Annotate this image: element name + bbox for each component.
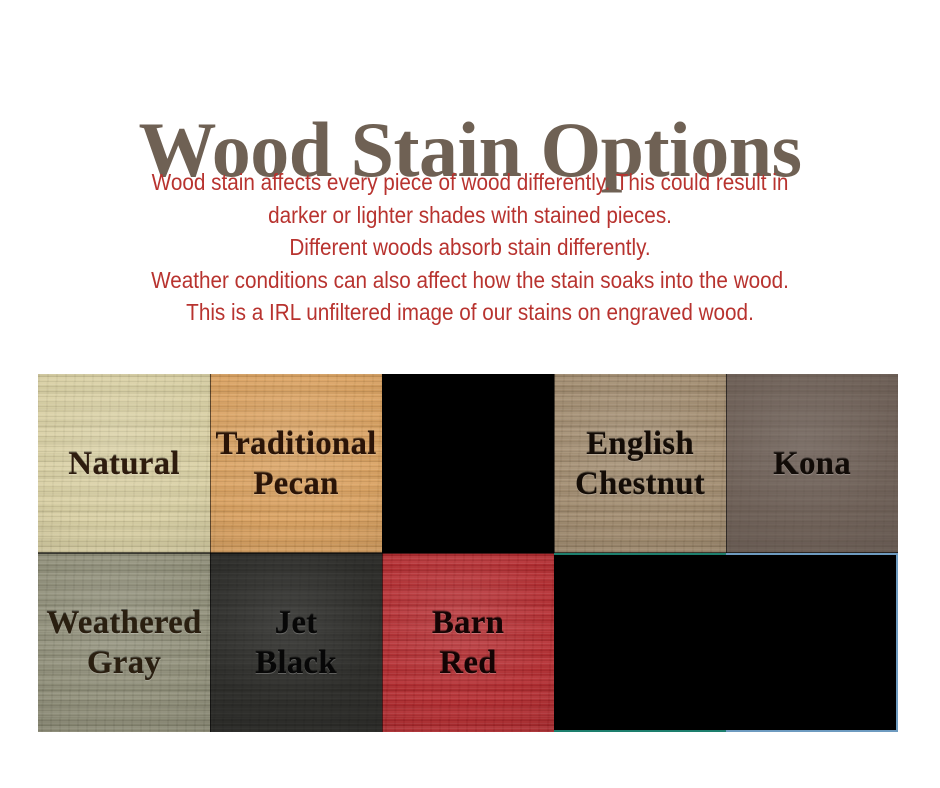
swatch-weathered-gray[interactable]: Weathered Gray — [38, 553, 210, 732]
intro-line-4: Weather conditions can also affect how t… — [47, 264, 893, 297]
intro-line-1: Wood stain affects every piece of wood d… — [47, 166, 893, 199]
swatch-english-chestnut[interactable]: English Chestnut — [554, 374, 726, 553]
swatch-label-weathered-gray: Weathered Gray — [46, 603, 201, 683]
intro-line-2: darker or lighter shades with stained pi… — [47, 199, 893, 232]
swatch-label-natural: Natural — [68, 444, 179, 484]
stain-swatch-board: Natural Traditional Pecan English Chestn… — [38, 374, 898, 732]
swatch-kona[interactable]: Kona — [726, 374, 898, 553]
swatch-label-kona: Kona — [773, 444, 851, 484]
swatch-jet-black[interactable]: Jet Black — [210, 553, 382, 732]
intro-line-3: Different woods absorb stain differently… — [47, 231, 893, 264]
swatch-label-english-chestnut: English Chestnut — [575, 424, 705, 504]
swatch-unlabeled-black-1[interactable] — [382, 374, 554, 553]
intro-line-5: This is a IRL unfiltered image of our st… — [47, 296, 893, 329]
swatch-natural[interactable]: Natural — [38, 374, 210, 553]
swatch-label-barn-red: Barn Red — [432, 603, 504, 683]
intro-paragraph: Wood stain affects every piece of wood d… — [47, 166, 893, 329]
swatch-label-jet-black: Jet Black — [255, 603, 337, 683]
wood-stain-options-page: Wood Stain Options Wood stain affects ev… — [0, 0, 940, 788]
teal-edge-highlight-top — [554, 553, 726, 555]
swatch-unlabeled-black-3[interactable] — [726, 553, 898, 732]
swatch-unlabeled-black-2[interactable] — [554, 553, 726, 732]
swatch-row-top: Natural Traditional Pecan English Chestn… — [38, 374, 898, 553]
blue-edge-highlight-bottom — [726, 730, 898, 732]
teal-edge-highlight-bottom — [554, 730, 726, 732]
swatch-barn-red[interactable]: Barn Red — [382, 553, 554, 732]
swatch-label-traditional-pecan: Traditional Pecan — [215, 424, 376, 504]
blue-edge-highlight-right — [896, 553, 898, 732]
blue-edge-highlight-top — [726, 553, 898, 555]
swatch-row-bottom: Weathered Gray Jet Black Barn Red — [38, 553, 898, 732]
swatch-traditional-pecan[interactable]: Traditional Pecan — [210, 374, 382, 553]
